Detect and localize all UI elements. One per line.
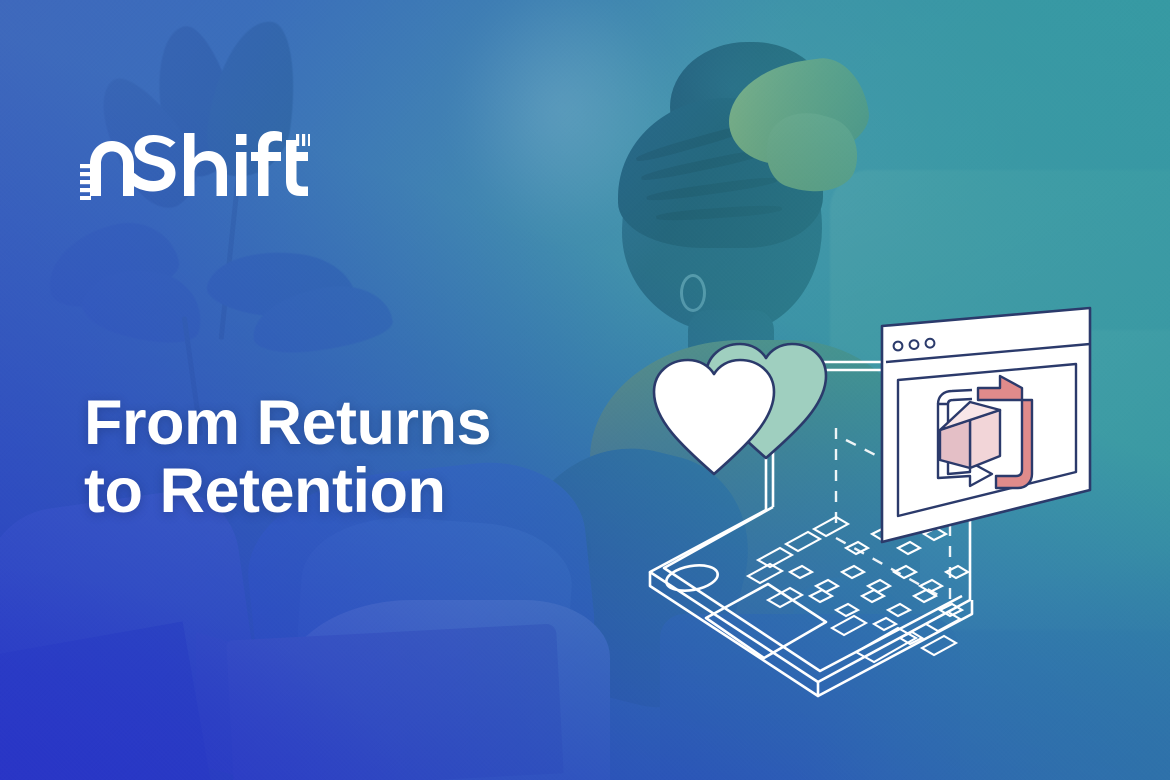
laptop-keyboard xyxy=(748,517,968,662)
nshift-logo[interactable] xyxy=(80,128,310,200)
page-title: From Returns to Retention xyxy=(84,390,491,525)
heart-3d-icon xyxy=(654,344,826,474)
logo-barcode-ticks xyxy=(296,134,310,146)
heart-front-face xyxy=(654,360,774,474)
logo-letter-i-dot xyxy=(236,134,247,145)
returns-illustration xyxy=(640,300,1110,730)
logo-letter-s xyxy=(128,135,176,192)
logo-letter-t xyxy=(286,140,308,196)
marketing-banner: From Returns to Retention xyxy=(0,0,1170,780)
logo-letter-f xyxy=(251,131,282,196)
logo-barcode-stripes xyxy=(80,164,91,200)
logo-letter-h xyxy=(184,133,227,196)
logo-letter-n xyxy=(90,141,134,196)
logo-letter-i xyxy=(236,152,247,196)
